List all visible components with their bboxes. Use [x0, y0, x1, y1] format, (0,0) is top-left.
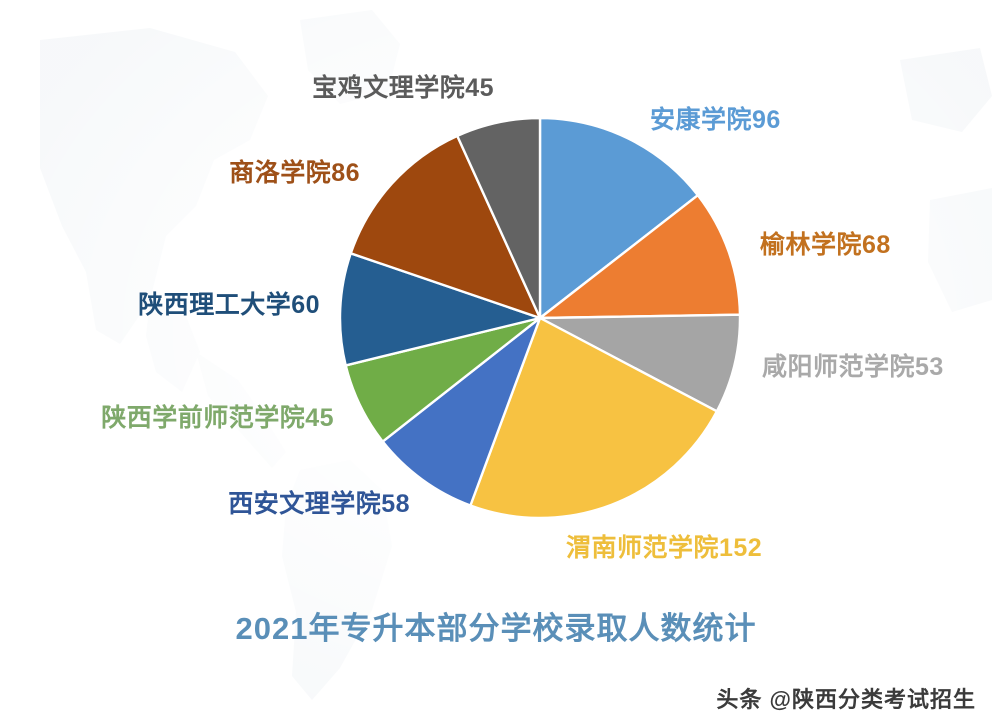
pie-slice-label: 渭南师范学院152: [566, 536, 762, 561]
watermark-text: 头条 @陕西分类考试招生: [716, 682, 976, 714]
pie-slice-label: 安康学院96: [650, 108, 781, 133]
pie-slice-label: 榆林学院68: [760, 233, 891, 258]
pie-slice-label: 商洛学院86: [0, 161, 360, 186]
pie-slice-label: 陕西理工大学60: [0, 293, 320, 318]
pie-slice-label: 陕西学前师范学院45: [0, 406, 334, 431]
chart-title: 2021年专升本部分学校录取人数统计: [0, 603, 992, 648]
pie-slice-label: 宝鸡文理学院45: [0, 76, 494, 101]
pie-slice-label: 咸阳师范学院53: [762, 355, 944, 380]
pie-slice-group: [340, 118, 740, 518]
chart-stage: 安康学院96榆林学院68咸阳师范学院53渭南师范学院152西安文理学院58陕西学…: [0, 0, 992, 722]
pie-slice-label: 西安文理学院58: [0, 492, 410, 517]
